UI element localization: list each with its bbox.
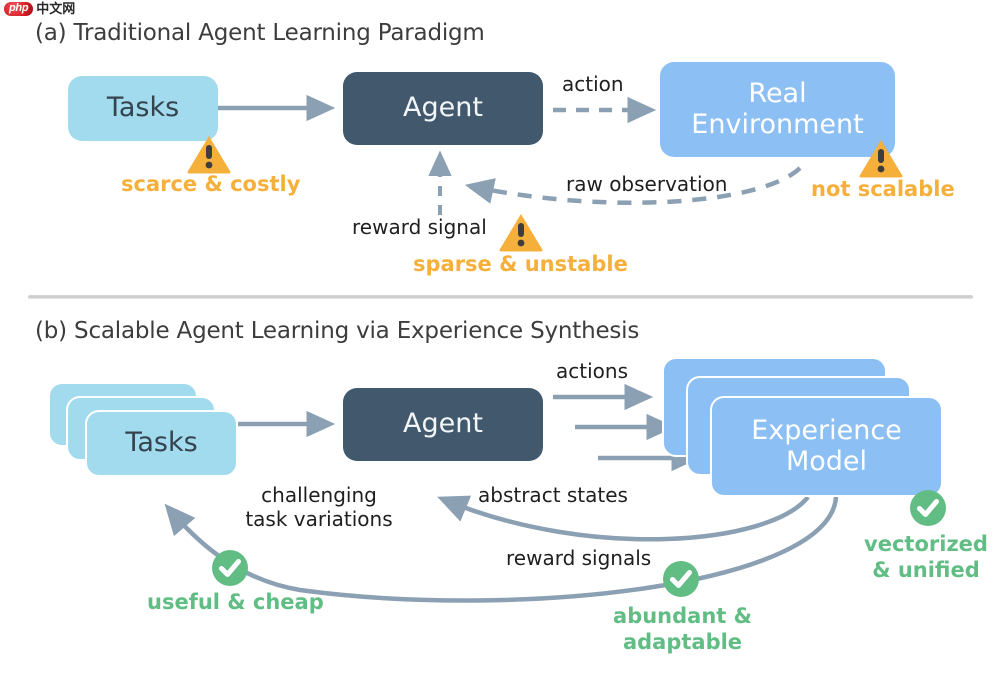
panel-b-title: (b) Scalable Agent Learning via Experien… bbox=[35, 318, 639, 344]
check-circle-icon-reward bbox=[662, 560, 700, 598]
note-model-line2: & unified bbox=[872, 558, 980, 582]
note-reward-abundant-adaptable: abundant & adaptable bbox=[605, 603, 760, 656]
edge-label-action: action bbox=[562, 73, 624, 97]
check-circle-icon-model bbox=[909, 489, 947, 527]
node-tasks-a: Tasks bbox=[68, 76, 218, 141]
note-model-line1: vectorized bbox=[864, 532, 988, 556]
node-experience-model-label-line1: Experience bbox=[751, 416, 902, 446]
note-tasks-useful-cheap: useful & cheap bbox=[147, 589, 324, 615]
php-logo-icon: php bbox=[4, 2, 33, 16]
edge-label-abstract-states: abstract states bbox=[478, 484, 628, 508]
node-tasks-b: Tasks bbox=[85, 410, 238, 477]
edge-label-challenging-line1: challenging bbox=[261, 483, 377, 507]
edge-label-raw-observation: raw observation bbox=[566, 173, 727, 197]
note-reward-line1: abundant & bbox=[613, 604, 752, 628]
edge-label-reward-signals: reward signals bbox=[506, 547, 651, 571]
node-tasks-b-label: Tasks bbox=[125, 428, 197, 458]
warning-triangle-icon-environment bbox=[858, 137, 904, 179]
warning-triangle-icon-reward bbox=[498, 211, 544, 253]
node-experience-model: Experience Model bbox=[710, 396, 943, 497]
warning-triangle-icon-tasks bbox=[186, 133, 232, 175]
edge-label-challenging-line2: task variations bbox=[245, 507, 392, 531]
edge-label-challenging-task-variations: challenging task variations bbox=[229, 484, 409, 531]
node-agent-b-label: Agent bbox=[403, 409, 483, 439]
node-agent-a: Agent bbox=[343, 72, 543, 145]
note-environment-not-scalable: not scalable bbox=[811, 177, 955, 201]
watermark: php 中文网 bbox=[4, 2, 75, 16]
edge-label-actions: actions bbox=[556, 360, 628, 384]
panel-a-title: (a) Traditional Agent Learning Paradigm bbox=[35, 20, 485, 46]
node-agent-a-label: Agent bbox=[403, 93, 483, 123]
watermark-text: 中文网 bbox=[36, 3, 75, 16]
check-circle-icon-tasks bbox=[211, 549, 249, 587]
note-model-vectorized-unified: vectorized & unified bbox=[855, 531, 997, 584]
node-real-environment-label-line1: Real bbox=[748, 79, 806, 109]
node-agent-b: Agent bbox=[343, 388, 543, 461]
note-tasks-scarce-costly: scarce & costly bbox=[121, 172, 300, 196]
note-reward-sparse-unstable: sparse & unstable bbox=[413, 252, 628, 276]
diagram-canvas: php 中文网 (a) Traditional Agent Learning P… bbox=[0, 0, 999, 675]
node-tasks-a-label: Tasks bbox=[107, 93, 179, 123]
panel-divider bbox=[28, 295, 973, 299]
note-reward-line2: adaptable bbox=[623, 630, 742, 654]
edge-label-reward-signal: reward signal bbox=[352, 216, 487, 240]
node-experience-model-label-line2: Model bbox=[786, 447, 867, 477]
node-real-environment-label-line2: Environment bbox=[691, 110, 863, 140]
